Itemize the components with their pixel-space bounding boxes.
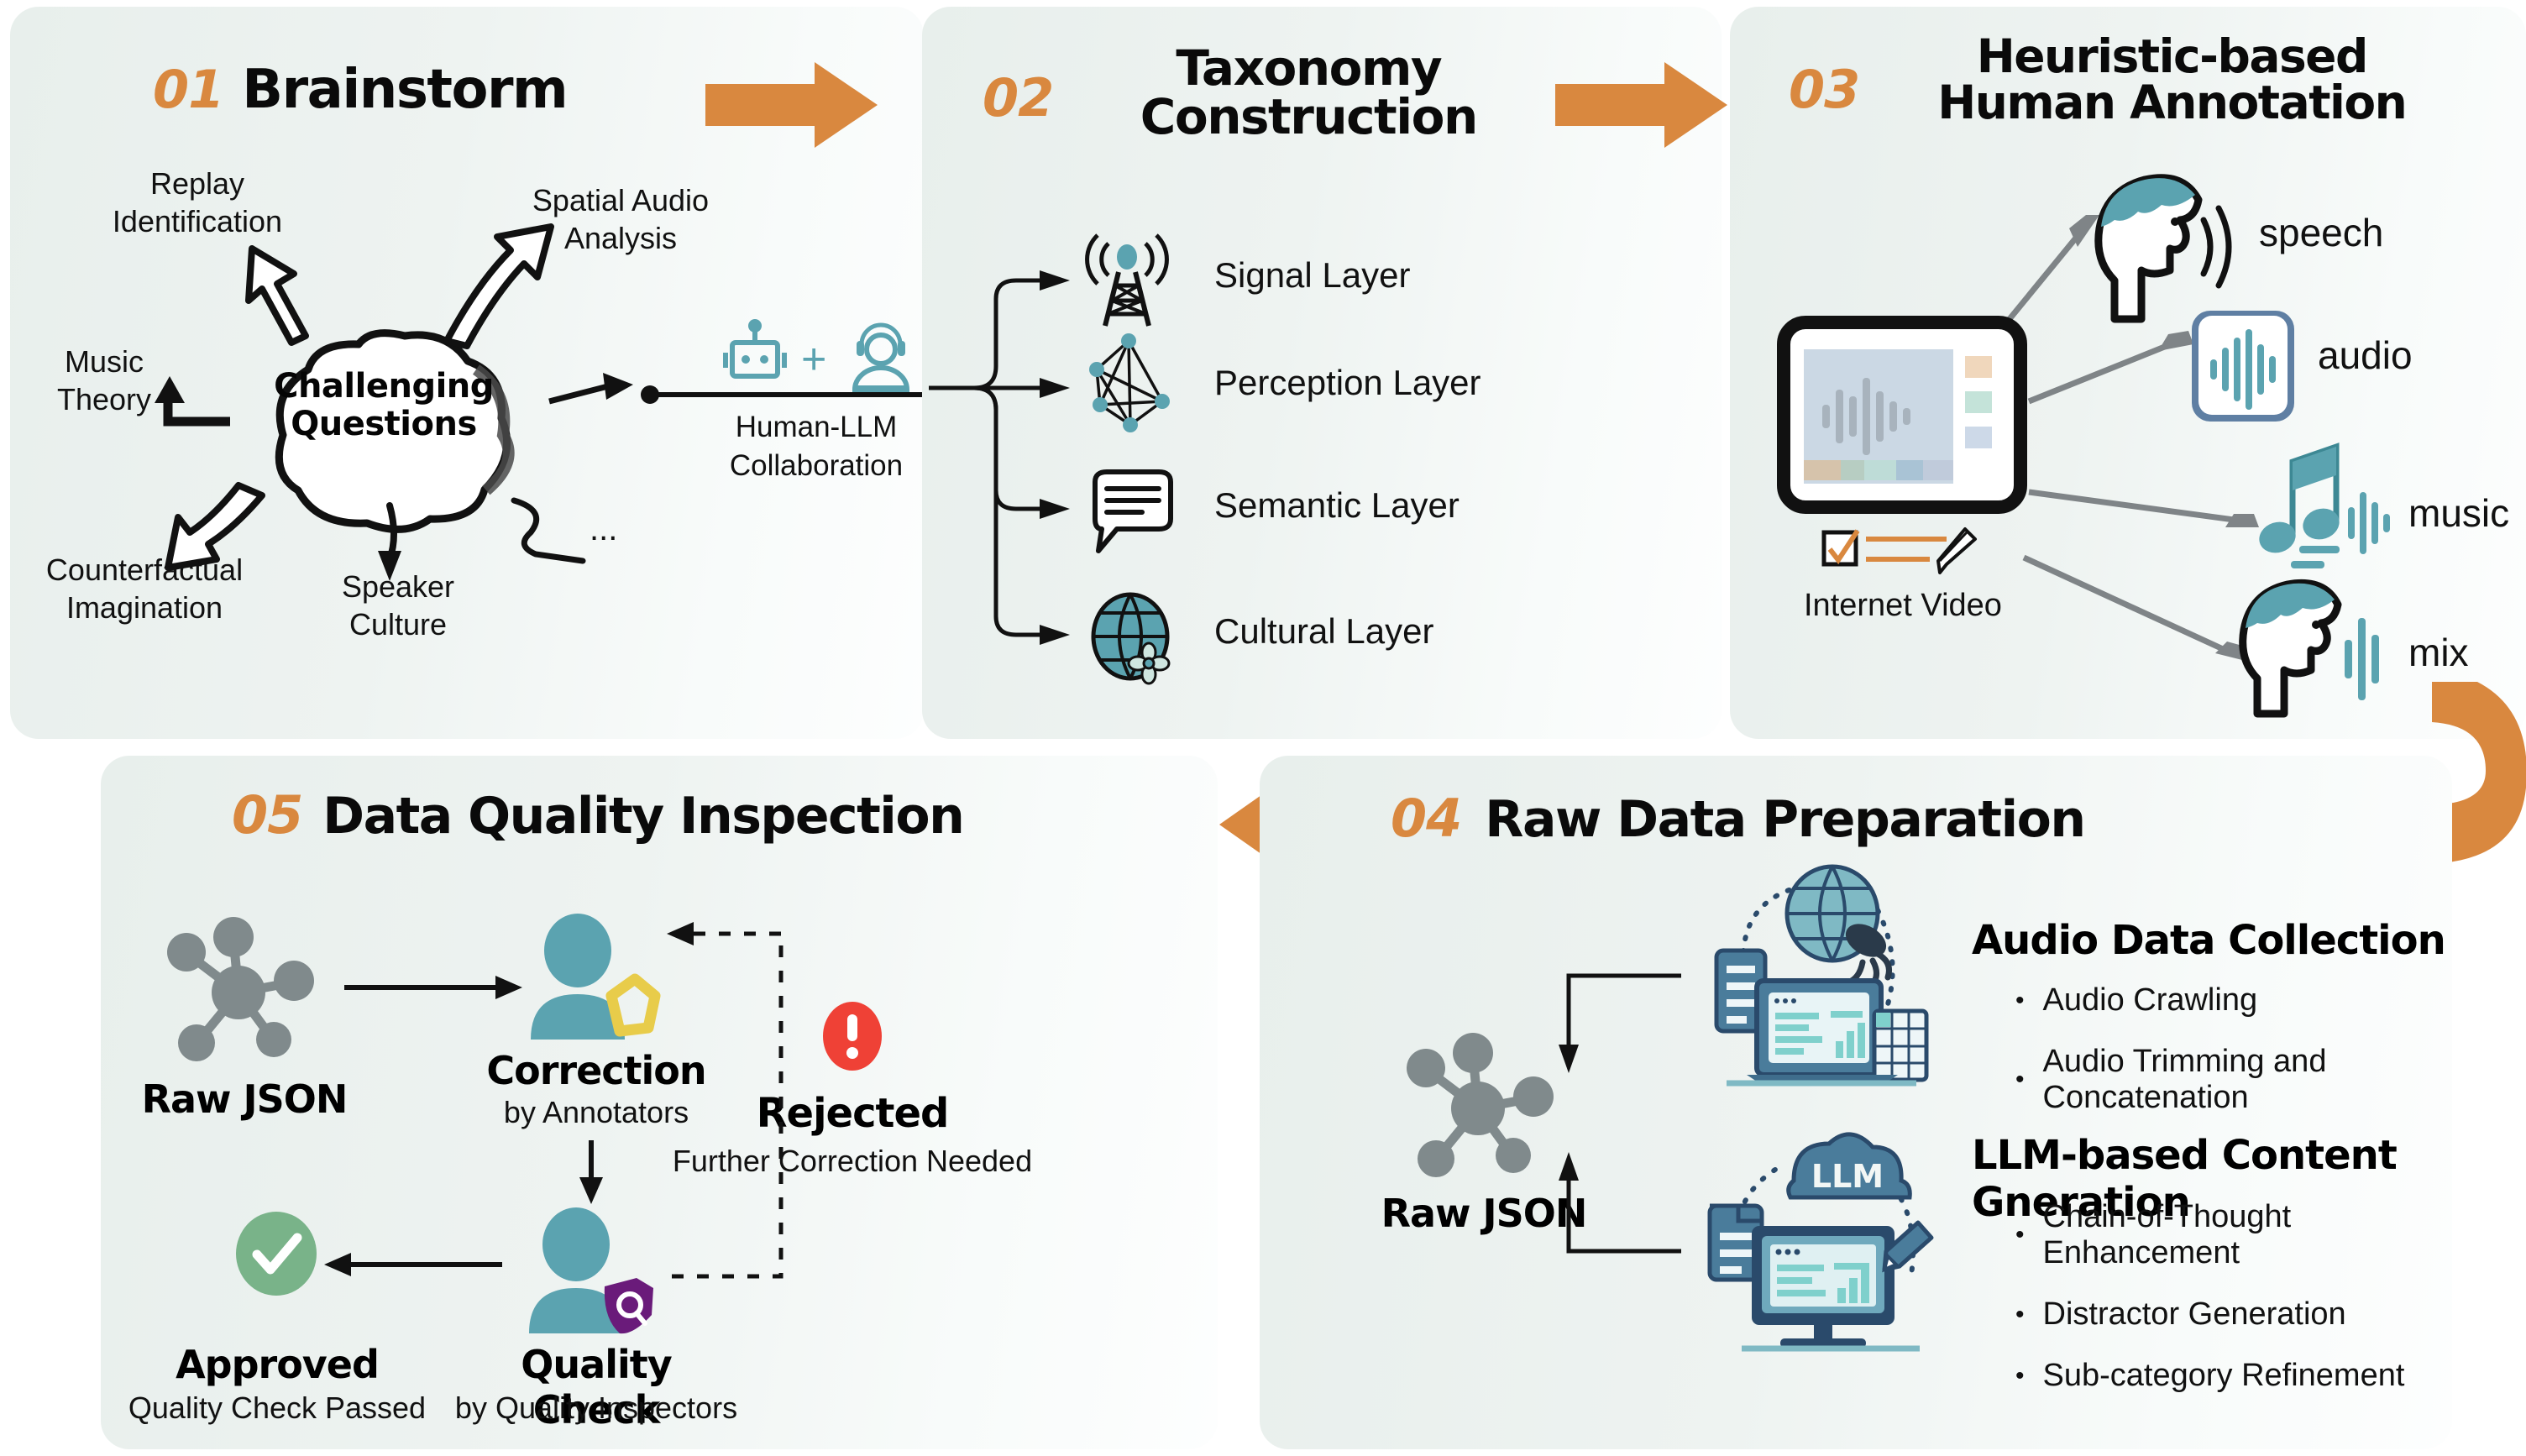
- annotate-checkbox-pencil-icon: [1822, 524, 1990, 574]
- network-graph-icon: [1085, 333, 1177, 433]
- topic-music-line2: Theory: [29, 380, 180, 418]
- topic-cf-line2: Imagination: [18, 589, 270, 626]
- svg-text:LLM: LLM: [1811, 1158, 1884, 1195]
- topic-spatial-line2: Analysis: [499, 219, 742, 257]
- phone-waveform-icon: [2188, 307, 2298, 425]
- panel-05-flow-arrows: [101, 756, 1218, 1449]
- topic-speaker-line2: Culture: [314, 605, 482, 643]
- topic-music-theory: Music Theory: [29, 343, 180, 418]
- panel-05-quality-inspection: 05 Data Quality Inspection Raw JSON Corr…: [101, 756, 1218, 1449]
- plus-icon: +: [801, 334, 826, 385]
- llm-cloud-monitor-icon: LLM: [1686, 1115, 1938, 1350]
- topic-replay-line2: Identification: [84, 202, 311, 240]
- bullet-dot: •: [2015, 1362, 2025, 1391]
- bullet-text: Audio Crawling: [2043, 982, 2258, 1019]
- topic-ellipsis: ...: [590, 511, 617, 548]
- bullet-text: Audio Trimming and Concatenation: [2043, 1044, 2452, 1116]
- taxonomy-label-signal-layer: Signal Layer: [1214, 255, 1410, 296]
- bullet-item: • Sub-category Refinement: [2015, 1358, 2452, 1394]
- diagram-root: 01 Brainstorm Challenging Questions: [0, 0, 2526, 1456]
- music-note-waveform-icon: [2244, 443, 2395, 569]
- bullet-dot: •: [2015, 987, 2025, 1015]
- panel-03-annotation: 03 Heuristic-based Human Annotation: [1730, 7, 2526, 739]
- collab-line2: Collaboration: [673, 447, 959, 485]
- topic-replay-line1: Replay: [84, 165, 311, 202]
- bullet-text: Sub-category Refinement: [2043, 1358, 2405, 1394]
- internet-video-label: Internet Video: [1804, 588, 2002, 624]
- audio-data-collection-heading: Audio Data Collection: [1972, 917, 2445, 964]
- panel-04-raw-data-preparation: 04 Raw Data Preparation Raw JSON: [1260, 756, 2452, 1449]
- target-label-mix: mix: [2408, 630, 2469, 675]
- human-llm-collaboration-caption: Human-LLM Collaboration: [673, 408, 959, 484]
- globe-flower-icon: [1087, 593, 1179, 687]
- target-label-music: music: [2408, 490, 2509, 536]
- topic-speaker-line1: Speaker: [314, 568, 482, 605]
- bullet-dot: •: [2015, 1221, 2025, 1249]
- robot-icon: [722, 319, 788, 390]
- topic-replay-identification: Replay Identification: [84, 165, 311, 240]
- arrow-01-to-02: [705, 59, 890, 151]
- taxonomy-label-semantic-layer: Semantic Layer: [1214, 485, 1460, 526]
- head-speaking-icon: [2089, 171, 2249, 322]
- person-headset-icon: [850, 316, 912, 390]
- target-label-audio: audio: [2318, 333, 2413, 378]
- topic-speaker-culture: Speaker Culture: [314, 568, 482, 643]
- bullet-item: • Distractor Generation: [2015, 1296, 2452, 1333]
- target-label-speech: speech: [2259, 210, 2383, 255]
- topic-counterfactual-imagination: Counterfactual Imagination: [18, 551, 270, 626]
- bullet-item: • Audio Crawling: [2015, 982, 2452, 1019]
- antenna-tower-icon: [1083, 233, 1171, 327]
- bullet-item: • Audio Trimming and Concatenation: [2015, 1044, 2452, 1116]
- topic-spatial-line1: Spatial Audio: [499, 181, 742, 219]
- bullet-dot: •: [2015, 1066, 2025, 1094]
- bullet-item: • Chain-of-Thought Enhancement: [2015, 1199, 2452, 1271]
- speech-bubble-icon: [1087, 467, 1179, 554]
- topic-spatial-audio-analysis: Spatial Audio Analysis: [499, 181, 742, 257]
- globe-crawler-laptop-icon: [1688, 863, 1940, 1082]
- topic-music-line1: Music: [29, 343, 180, 380]
- bullet-dot: •: [2015, 1301, 2025, 1329]
- bullet-text: Distractor Generation: [2043, 1296, 2346, 1333]
- arrow-02-to-03: [1555, 59, 1740, 151]
- taxonomy-label-cultural-layer: Cultural Layer: [1214, 611, 1433, 652]
- tablet-waveform-icon: [1779, 317, 2026, 526]
- bullet-text: Chain-of-Thought Enhancement: [2043, 1199, 2452, 1271]
- collab-line1: Human-LLM: [673, 408, 959, 447]
- taxonomy-label-perception-layer: Perception Layer: [1214, 363, 1481, 403]
- topic-cf-line1: Counterfactual: [18, 551, 270, 589]
